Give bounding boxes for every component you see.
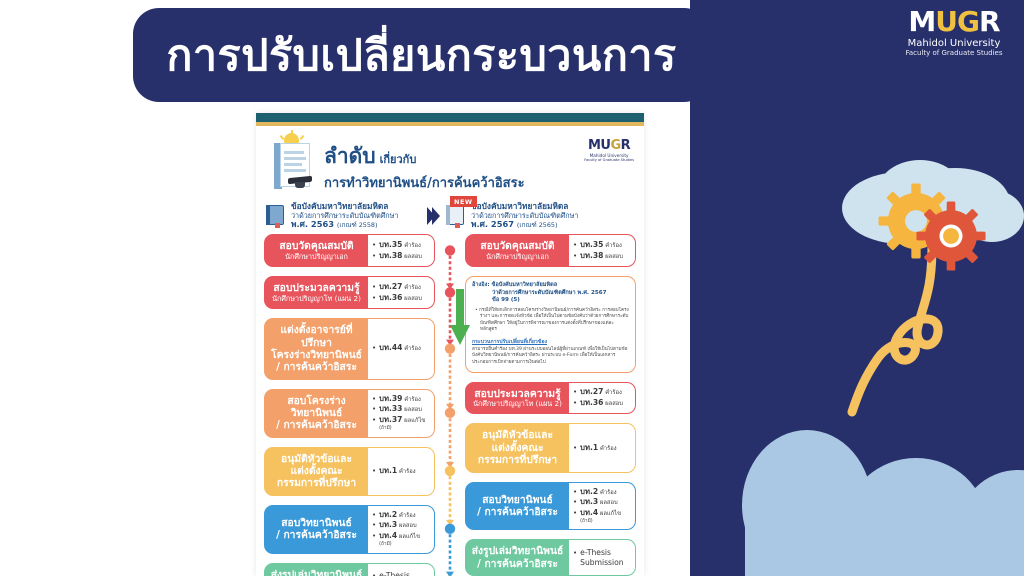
form-code: บท.27 xyxy=(580,387,603,396)
step-label: สอบวัดคุณสมบัตินักศึกษาปริญญาเอก xyxy=(265,235,368,266)
process-step-right-1[interactable]: สอบวัดคุณสมบัตินักศึกษาปริญญาเอก•บท.35 ค… xyxy=(465,234,636,267)
step-title-line: กรรมการที่ปรึกษา xyxy=(277,477,356,489)
regulation-comparison-row: ข้อบังคับมหาวิทยาลัยมหิดล ว่าด้วยการศึกษ… xyxy=(256,200,644,234)
infographic-heading: ลำดับ เกี่ยวกับ การทำวิทยานิพนธ์/การค้นค… xyxy=(324,140,525,193)
infographic-card: ลำดับ เกี่ยวกับ การทำวิทยานิพนธ์/การค้นค… xyxy=(256,113,644,576)
process-step-right-3[interactable]: อนุมัติหัวข้อและแต่งตั้งคณะกรรมการที่ปรึ… xyxy=(465,423,636,472)
step-code-item: •บท.3 ผลสอบ xyxy=(573,497,632,508)
step-label: ส่งรูปเล่มวิทยานิพนธ์/ การค้นคว้าอิสระ xyxy=(466,540,569,575)
book-icon-old xyxy=(264,204,286,228)
bullet-icon: • xyxy=(372,242,376,249)
step-title-line: สอบประมวลความรู้ xyxy=(474,388,560,400)
bullet-icon: • xyxy=(372,284,376,291)
step-code-item: •e-ThesisSubmission xyxy=(372,571,431,576)
form-code-note: ผลสอบ xyxy=(603,401,623,407)
form-code: บท.27 xyxy=(379,282,402,291)
infographic-brand-mark: MUGR xyxy=(584,138,634,153)
timeline-graphic xyxy=(435,234,465,576)
form-code: บท.3 xyxy=(379,520,397,529)
brand-mark: MUGR xyxy=(908,8,999,36)
step-title-line: แต่งตั้งคณะ xyxy=(290,465,342,477)
form-code-paren: (ถ้ามี) xyxy=(580,519,621,525)
form-code-note: คำร้อง xyxy=(603,243,621,249)
step-label: สอบวัดคุณสมบัตินักศึกษาปริญญาเอก xyxy=(466,235,569,266)
step-title-line: / การค้นคว้าอิสระ xyxy=(477,506,558,518)
step-title-line: แต่งตั้งคณะ xyxy=(491,442,543,454)
form-code-note: คำร้อง xyxy=(402,397,420,403)
step-code-text: บท.35 คำร้อง xyxy=(379,240,421,251)
process-step-left-6[interactable]: สอบวิทยานิพนธ์/ การค้นคว้าอิสระ•บท.2 คำร… xyxy=(264,505,435,554)
form-code-paren: (ถ้ามี) xyxy=(379,426,425,432)
form-code-note: คำร้อง xyxy=(603,390,621,396)
step-code-text: บท.36 ผลสอบ xyxy=(379,293,422,304)
heading-word-main: ลำดับ xyxy=(324,140,376,173)
note-link[interactable]: กระบวนการปรับเปลี่ยนที่เกี่ยวข้อง xyxy=(472,338,629,346)
step-code-text: บท.44 คำร้อง xyxy=(379,343,421,354)
step-form-codes: •บท.39 คำร้อง•บท.33 ผลสอบ•บท.37 ผลแก้ไข(… xyxy=(368,390,434,437)
slide-canvas: การปรับเปลี่ยนกระบวนการ MUGR Mahidol Uni… xyxy=(0,0,1024,576)
step-form-codes: •บท.27 คำร้อง•บท.36 ผลสอบ xyxy=(569,383,635,414)
step-title-line: โครงร่างวิทยานิพนธ์ xyxy=(271,349,362,361)
form-code-note: ผลสอบ xyxy=(598,500,618,506)
form-code: บท.2 xyxy=(379,510,397,519)
process-step-left-4[interactable]: สอบโครงร่างวิทยานิพนธ์/ การค้นคว้าอิสระ•… xyxy=(264,389,435,438)
step-code-text: บท.35 คำร้อง xyxy=(580,240,622,251)
step-code-text: บท.4 ผลแก้ไข(ถ้ามี) xyxy=(580,508,621,525)
step-title-line: / การค้นคว้าอิสระ xyxy=(276,419,357,431)
step-code-item: •บท.36 ผลสอบ xyxy=(372,293,431,304)
bullet-icon: • xyxy=(573,510,577,517)
step-code-item: •บท.2 คำร้อง xyxy=(372,510,431,521)
bullet-icon: • xyxy=(372,533,376,540)
form-code: บท.35 xyxy=(580,240,603,249)
bullet-icon: • xyxy=(573,400,577,407)
step-subtitle: นักศึกษาปริญญาเอก xyxy=(486,253,549,262)
step-label: อนุมัติหัวข้อและแต่งตั้งคณะกรรมการที่ปรึ… xyxy=(265,448,368,495)
bullet-icon: • xyxy=(372,512,376,519)
step-title-line: / การค้นคว้าอิสระ xyxy=(477,558,558,570)
process-step-right-4[interactable]: สอบวิทยานิพนธ์/ การค้นคว้าอิสระ•บท.2 คำร… xyxy=(465,482,636,531)
form-code-note: ผลสอบ xyxy=(402,407,422,413)
step-title-line: แต่งตั้งอาจารย์ที่ปรึกษา xyxy=(269,324,364,349)
brand-university-name: Mahidol University xyxy=(899,38,1009,49)
step-code-item: •บท.44 คำร้อง xyxy=(372,343,431,354)
step-form-codes: •บท.27 คำร้อง•บท.36 ผลสอบ xyxy=(368,277,434,308)
form-code: บท.36 xyxy=(580,398,603,407)
form-code: บท.36 xyxy=(379,293,402,302)
form-code-note: คำร้อง xyxy=(598,446,616,452)
step-title-line: สอบประมวลความรู้ xyxy=(273,282,359,294)
step-form-codes: •บท.35 คำร้อง•บท.38 ผลสอบ xyxy=(368,235,434,266)
step-code-item: •บท.38 ผลสอบ xyxy=(372,251,431,262)
bullet-icon: • xyxy=(573,389,577,396)
bullet-icon: • xyxy=(573,499,577,506)
regulation-old: ข้อบังคับมหาวิทยาลัยมหิดล ว่าด้วยการศึกษ… xyxy=(264,202,426,230)
step-code-item: •บท.3 ผลสอบ xyxy=(372,520,431,531)
reference-note-box: อ้างอิง: ข้อบังคับมหาวิทยาลัยมหิดลว่าด้ว… xyxy=(465,276,636,372)
transition-arrows-icon xyxy=(430,207,440,225)
bullet-icon: • xyxy=(573,242,577,249)
book-icon-new xyxy=(444,204,466,228)
step-code-text: บท.27 คำร้อง xyxy=(580,387,622,398)
form-code: บท.4 xyxy=(580,508,598,517)
infographic-header: ลำดับ เกี่ยวกับ การทำวิทยานิพนธ์/การค้นค… xyxy=(256,126,644,200)
step-title-line: สอบวิทยานิพนธ์ xyxy=(482,494,553,506)
process-step-left-7[interactable]: ส่งรูปเล่มวิทยานิพนธ์/ การค้นคว้าอิสระ•e… xyxy=(264,563,435,576)
form-code-note: คำร้อง xyxy=(402,285,420,291)
step-subtitle: นักศึกษาปริญญาโท (แผน 2) xyxy=(473,400,562,409)
step-title-line: อนุมัติหัวข้อและ xyxy=(482,429,553,441)
bullet-icon: • xyxy=(372,417,376,424)
form-code: บท.38 xyxy=(379,251,402,260)
step-code-text: บท.38 ผลสอบ xyxy=(580,251,623,262)
step-code-item: •บท.1 คำร้อง xyxy=(573,443,632,454)
step-code-item: •บท.4 ผลแก้ไข(ถ้ามี) xyxy=(372,531,431,548)
bullet-icon: • xyxy=(372,345,376,352)
note-heading: อ้างอิง: ข้อบังคับมหาวิทยาลัยมหิดล xyxy=(472,282,629,290)
process-flow: สอบวัดคุณสมบัตินักศึกษาปริญญาเอก•บท.35 ค… xyxy=(256,234,644,576)
step-title-line: กรรมการที่ปรึกษา xyxy=(478,454,557,466)
step-title-line: สอบวิทยานิพนธ์ xyxy=(281,517,352,529)
step-code-text: บท.2 คำร้อง xyxy=(580,487,616,498)
form-code-note: คำร้อง xyxy=(397,469,415,475)
infographic-brand-faculty: Faculty of Graduate Studies xyxy=(584,158,634,162)
step-code-text: บท.36 ผลสอบ xyxy=(580,398,623,409)
step-form-codes: •บท.35 คำร้อง•บท.38 ผลสอบ xyxy=(569,235,635,266)
bullet-icon: • xyxy=(573,550,577,557)
form-code-paren: (ถ้ามี) xyxy=(379,542,420,548)
form-code-note: คำร้อง xyxy=(402,243,420,249)
regulation-new: NEW ข้อบังคับมหาวิทยาลัยมหิดล ว่าด้วยการ… xyxy=(444,202,578,230)
form-code: บท.2 xyxy=(580,487,598,496)
step-title-line: วิทยานิพนธ์ xyxy=(291,407,343,419)
form-code: บท.3 xyxy=(580,497,598,506)
step-code-item: •บท.35 คำร้อง xyxy=(372,240,431,251)
step-code-text: บท.1 คำร้อง xyxy=(580,443,616,454)
step-code-text: e-ThesisSubmission xyxy=(580,548,623,568)
step-title-line: ส่งรูปเล่มวิทยานิพนธ์ xyxy=(472,545,564,557)
step-label: อนุมัติหัวข้อและแต่งตั้งคณะกรรมการที่ปรึ… xyxy=(466,424,569,471)
step-form-codes: •บท.1 คำร้อง xyxy=(368,448,434,495)
step-code-text: บท.39 คำร้อง xyxy=(379,394,421,405)
bullet-icon: • xyxy=(573,253,577,260)
step-code-item: •บท.35 คำร้อง xyxy=(573,240,632,251)
step-label: สอบวิทยานิพนธ์/ การค้นคว้าอิสระ xyxy=(466,483,569,530)
left-process-column: สอบวัดคุณสมบัตินักศึกษาปริญญาเอก•บท.35 ค… xyxy=(264,234,435,576)
step-code-item: •บท.1 คำร้อง xyxy=(372,466,431,477)
form-code-note: ผลแก้ไข xyxy=(402,418,425,424)
step-title-line: ส่งรูปเล่มวิทยานิพนธ์ xyxy=(271,569,363,576)
form-code: บท.1 xyxy=(580,443,598,452)
process-step-left-1[interactable]: สอบวัดคุณสมบัตินักศึกษาปริญญาเอก•บท.35 ค… xyxy=(264,234,435,267)
step-code-text: บท.27 คำร้อง xyxy=(379,282,421,293)
step-title-line: สอบโครงร่าง xyxy=(287,395,345,407)
document-bulb-icon xyxy=(264,133,322,199)
regulation-old-year: พ.ศ. 2563 xyxy=(291,219,334,229)
heading-line-2: การทำวิทยานิพนธ์/การค้นคว้าอิสระ xyxy=(324,172,525,193)
step-code-text: บท.4 ผลแก้ไข(ถ้ามี) xyxy=(379,531,420,548)
slide-title-pill: การปรับเปลี่ยนกระบวนการ xyxy=(133,8,710,102)
bullet-icon: • xyxy=(372,295,376,302)
regulation-new-year: พ.ศ. 2567 xyxy=(471,219,514,229)
step-form-codes: •บท.1 คำร้อง xyxy=(569,424,635,471)
form-code-note: ผลแก้ไข xyxy=(397,534,420,540)
step-label: สอบประมวลความรู้นักศึกษาปริญญาโท (แผน 2) xyxy=(265,277,368,308)
process-step-right-5[interactable]: ส่งรูปเล่มวิทยานิพนธ์/ การค้นคว้าอิสระ•e… xyxy=(465,539,636,576)
bullet-icon: • xyxy=(573,489,577,496)
bullet-icon: • xyxy=(573,445,577,452)
note-body: สามารถยื่นคำร้อง บท.39 ผ่านระบบออนไลน์ผู… xyxy=(472,347,629,367)
form-code: บท.33 xyxy=(379,404,402,413)
process-step-right-2[interactable]: สอบประมวลความรู้นักศึกษาปริญญาโท (แผน 2)… xyxy=(465,382,636,415)
form-code: บท.1 xyxy=(379,466,397,475)
step-title-line: / การค้นคว้าอิสระ xyxy=(276,361,357,373)
form-code-note: คำร้อง xyxy=(402,346,420,352)
step-form-codes: •e-ThesisSubmission xyxy=(368,564,434,576)
step-label: สอบโครงร่างวิทยานิพนธ์/ การค้นคว้าอิสระ xyxy=(265,390,368,437)
gear-flower-orange-icon xyxy=(915,200,987,272)
step-form-codes: •บท.2 คำร้อง•บท.3 ผลสอบ•บท.4 ผลแก้ไข(ถ้า… xyxy=(569,483,635,530)
step-code-text: บท.2 คำร้อง xyxy=(379,510,415,521)
step-label: แต่งตั้งอาจารย์ที่ปรึกษาโครงร่างวิทยานิพ… xyxy=(265,319,368,378)
green-down-arrow-icon xyxy=(450,289,470,345)
step-form-codes: •บท.44 คำร้อง xyxy=(368,319,434,378)
bullet-icon: • xyxy=(372,396,376,403)
form-code-note: ผลสอบ xyxy=(603,254,623,260)
brand-logo: MUGR Mahidol University Faculty of Gradu… xyxy=(899,8,1009,57)
step-code-item: •บท.39 คำร้อง xyxy=(372,394,431,405)
step-code-item: •บท.2 คำร้อง xyxy=(573,487,632,498)
form-code-note: คำร้อง xyxy=(598,490,616,496)
process-step-left-5[interactable]: อนุมัติหัวข้อและแต่งตั้งคณะกรรมการที่ปรึ… xyxy=(264,447,435,496)
step-code-text: บท.33 ผลสอบ xyxy=(379,404,422,415)
page-title: การปรับเปลี่ยนกระบวนการ xyxy=(166,21,676,89)
infographic-brand-logo: MUGR Mahidol University Faculty of Gradu… xyxy=(584,138,634,162)
step-code-item: •บท.4 ผลแก้ไข(ถ้ามี) xyxy=(573,508,632,525)
step-subtitle: นักศึกษาปริญญาโท (แผน 2) xyxy=(272,295,361,304)
step-code-text: บท.37 ผลแก้ไข(ถ้ามี) xyxy=(379,415,425,432)
new-badge: NEW xyxy=(450,196,477,207)
form-code: บท.4 xyxy=(379,531,397,540)
note-bullet: • กรณีที่ให้ยกเลิกการสอบโครงร่างวิทยานิพ… xyxy=(472,308,629,334)
card-top-bar xyxy=(256,113,644,122)
step-title-line: สอบวัดคุณสมบัติ xyxy=(279,240,353,252)
brand-faculty-name: Faculty of Graduate Studies xyxy=(899,49,1009,57)
regulation-new-criteria: (เกณฑ์ 2565) xyxy=(517,221,558,229)
step-code-item: •บท.36 ผลสอบ xyxy=(573,398,632,409)
heading-word-sub: เกี่ยวกับ xyxy=(380,150,417,168)
step-title-line: อนุมัติหัวข้อและ xyxy=(281,453,352,465)
step-code-item: •e-ThesisSubmission xyxy=(573,548,632,568)
step-code-item: •บท.37 ผลแก้ไข(ถ้ามี) xyxy=(372,415,431,432)
step-code-item: •บท.38 ผลสอบ xyxy=(573,251,632,262)
step-label: สอบวิทยานิพนธ์/ การค้นคว้าอิสระ xyxy=(265,506,368,553)
process-step-left-3[interactable]: แต่งตั้งอาจารย์ที่ปรึกษาโครงร่างวิทยานิพ… xyxy=(264,318,435,379)
step-form-codes: •e-ThesisSubmission xyxy=(569,540,635,575)
right-process-column: สอบวัดคุณสมบัตินักศึกษาปริญญาเอก•บท.35 ค… xyxy=(465,234,636,576)
step-title-line: สอบวัดคุณสมบัติ xyxy=(480,240,554,252)
form-code-note: ผลสอบ xyxy=(397,523,417,529)
step-title-line: / การค้นคว้าอิสระ xyxy=(276,529,357,541)
form-code-note: ผลแก้ไข xyxy=(598,511,621,517)
bullet-icon: • xyxy=(372,253,376,260)
bullet-icon: • xyxy=(372,406,376,413)
step-code-text: บท.3 ผลสอบ xyxy=(379,520,417,531)
step-label: สอบประมวลความรู้นักศึกษาปริญญาโท (แผน 2) xyxy=(466,383,569,414)
form-code: บท.35 xyxy=(379,240,402,249)
step-code-text: บท.38 ผลสอบ xyxy=(379,251,422,262)
form-code: บท.44 xyxy=(379,343,402,352)
form-code-note: ผลสอบ xyxy=(402,254,422,260)
step-code-text: บท.1 คำร้อง xyxy=(379,466,415,477)
form-code-note: คำร้อง xyxy=(397,513,415,519)
step-code-text: e-ThesisSubmission xyxy=(379,571,422,576)
center-timeline xyxy=(435,234,465,576)
step-subtitle: นักศึกษาปริญญาเอก xyxy=(285,253,348,262)
step-label: ส่งรูปเล่มวิทยานิพนธ์/ การค้นคว้าอิสระ xyxy=(265,564,368,576)
process-step-left-2[interactable]: สอบประมวลความรู้นักศึกษาปริญญาโท (แผน 2)… xyxy=(264,276,435,309)
bullet-icon: • xyxy=(372,468,376,475)
step-form-codes: •บท.2 คำร้อง•บท.3 ผลสอบ•บท.4 ผลแก้ไข(ถ้า… xyxy=(368,506,434,553)
bullet-icon: • xyxy=(372,522,376,529)
note-heading-3: ข้อ 99 (5) xyxy=(472,297,629,305)
step-code-item: •บท.27 คำร้อง xyxy=(573,387,632,398)
form-code: บท.39 xyxy=(379,394,402,403)
form-code: บท.37 xyxy=(379,415,402,424)
step-code-text: บท.3 ผลสอบ xyxy=(580,497,618,508)
step-code-item: •บท.27 คำร้อง xyxy=(372,282,431,293)
step-code-item: •บท.33 ผลสอบ xyxy=(372,404,431,415)
form-code-note: ผลสอบ xyxy=(402,296,422,302)
regulation-old-criteria: (เกณฑ์ 2558) xyxy=(337,221,378,229)
form-code: บท.38 xyxy=(580,251,603,260)
